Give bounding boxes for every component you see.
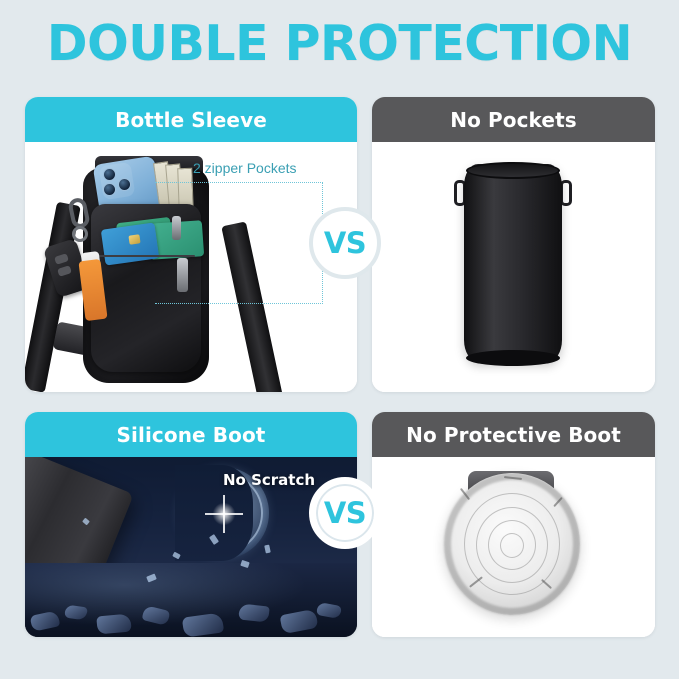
scratched-bottle-photo	[372, 457, 655, 637]
card-body-bottle-sleeve: 2 zipper Pockets	[25, 142, 357, 392]
card-body-no-protective-boot	[372, 457, 655, 637]
plain-sleeve-photo	[372, 142, 655, 392]
no-scratch-label: No Scratch	[223, 471, 315, 489]
silicone-boot-impact-photo: No Scratch	[25, 457, 357, 637]
card-chip-icon	[128, 234, 140, 244]
page-title: DOUBLE PROTECTION	[0, 18, 679, 69]
rock	[238, 603, 270, 622]
card-bottle-sleeve: Bottle Sleeve	[25, 97, 357, 392]
card-header-no-protective-boot: No Protective Boot	[372, 412, 655, 457]
bottle-sleeve-photo: 2 zipper Pockets	[25, 142, 357, 392]
pocket-callout-label: 2 zipper Pockets	[193, 160, 297, 176]
card-no-protective-boot: No Protective Boot	[372, 412, 655, 637]
sleeve-top-rim	[466, 162, 560, 179]
card-silicone-boot: Silicone Boot	[25, 412, 357, 637]
rock	[96, 614, 131, 635]
card-header-no-pockets: No Pockets	[372, 97, 655, 142]
card-no-pockets: No Pockets	[372, 97, 655, 392]
card-header-bottle-sleeve: Bottle Sleeve	[25, 97, 357, 142]
impact-sparkle-icon	[211, 501, 237, 527]
plain-black-sleeve	[464, 164, 562, 362]
debris-fragment	[264, 545, 271, 554]
vs-badge-top: VS	[309, 207, 381, 279]
phone-lens-icon	[118, 178, 131, 191]
card-body-silicone-boot: No Scratch	[25, 457, 357, 637]
card-header-silicone-boot: Silicone Boot	[25, 412, 357, 457]
vs-badge-bottom: VS	[309, 477, 381, 549]
card-body-no-pockets	[372, 142, 655, 392]
phone-lens-icon	[103, 183, 116, 196]
phone-lens-icon	[103, 168, 116, 181]
key-ring-icon	[72, 226, 88, 242]
pocket-callout-box	[155, 182, 323, 304]
comparison-grid: Bottle Sleeve	[25, 97, 655, 637]
sleeve-bottom	[466, 350, 560, 366]
